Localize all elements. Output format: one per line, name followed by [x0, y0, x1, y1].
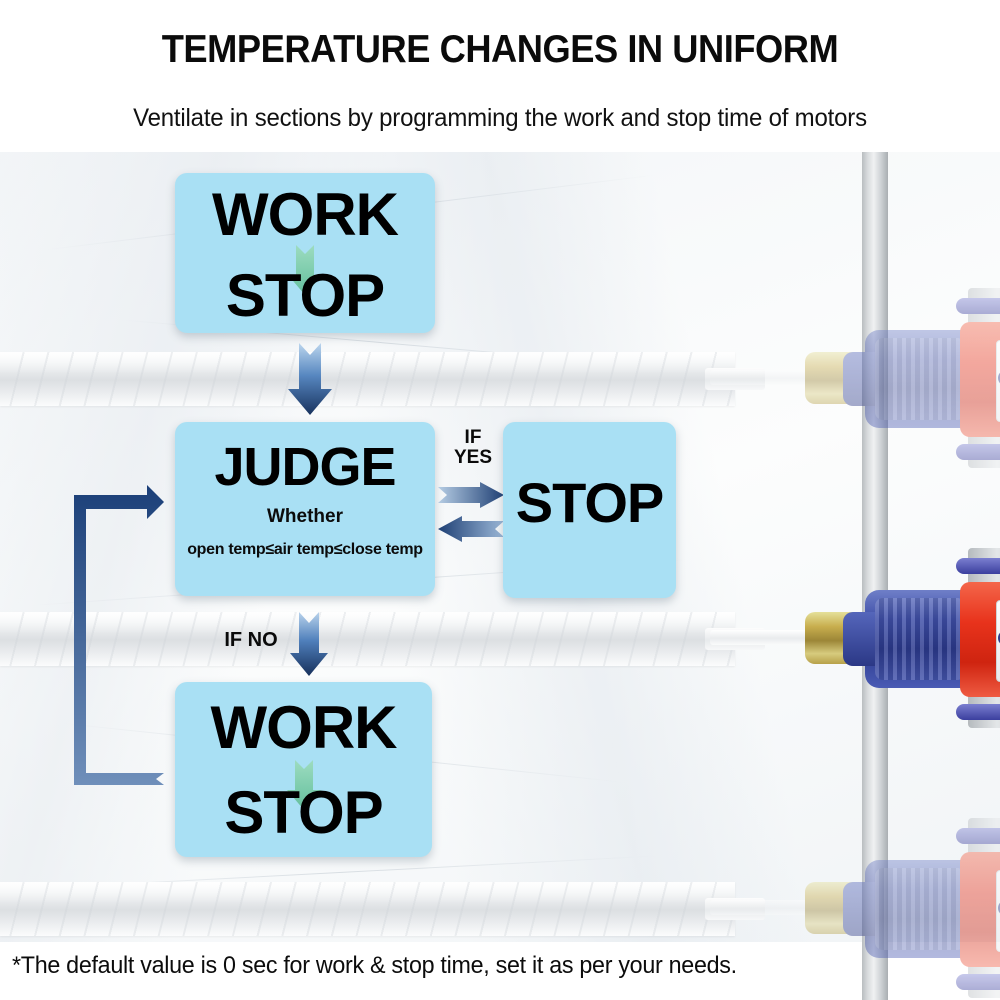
judge-condition: open temp≤air temp≤close temp [167, 541, 443, 559]
poster-root: TEMPERATURE CHANGES IN UNIFORM Ventilate… [0, 0, 1000, 1000]
judge-decision[interactable]: JUDGE Whether open temp≤air temp≤close t… [175, 422, 435, 596]
page-subtitle: Ventilate in sections by programming the… [20, 104, 980, 133]
top-box-work-label: WORK [175, 180, 435, 249]
work-stop-cycle-top[interactable]: WORK STOP [175, 173, 435, 333]
controller-housing [960, 852, 1000, 967]
work-stop-cycle-bottom[interactable]: WORK STOP [175, 682, 432, 857]
controller-housing [960, 582, 1000, 697]
bottom-box-work-label: WORK [175, 693, 432, 762]
footnote-text: *The default value is 0 sec for work & s… [12, 952, 885, 980]
arrow-down-to-judge [288, 343, 332, 415]
motor-housing [865, 860, 975, 958]
loop-back-to-judge [44, 485, 164, 795]
mount-clip-upper [956, 298, 1000, 314]
motor-unit-middle [710, 538, 1000, 738]
motor-housing [865, 590, 975, 688]
motor-housing [865, 330, 975, 428]
stop-result[interactable]: STOP [503, 422, 676, 598]
mount-clip-upper [956, 558, 1000, 574]
right-arrow-blue [438, 482, 504, 508]
mount-clip-lower [956, 444, 1000, 460]
motor-unit-top [710, 278, 1000, 478]
page-title: TEMPERATURE CHANGES IN UNIFORM [35, 28, 965, 72]
judge-title: JUDGE [175, 436, 435, 498]
mount-clip-lower [956, 704, 1000, 720]
if-no-label: IF NO [206, 630, 296, 651]
top-box-stop-label: STOP [175, 261, 435, 330]
arrow-down-to-work [290, 612, 328, 676]
mount-clip-lower [956, 974, 1000, 990]
mount-clip-upper [956, 828, 1000, 844]
bottom-box-stop-label: STOP [175, 778, 432, 847]
stop-box-label: STOP [503, 470, 676, 535]
judge-subtitle: Whether [175, 506, 435, 528]
controller-housing [960, 322, 1000, 437]
if-yes-label: IF YES [440, 428, 506, 468]
left-arrow-blue [438, 516, 504, 542]
